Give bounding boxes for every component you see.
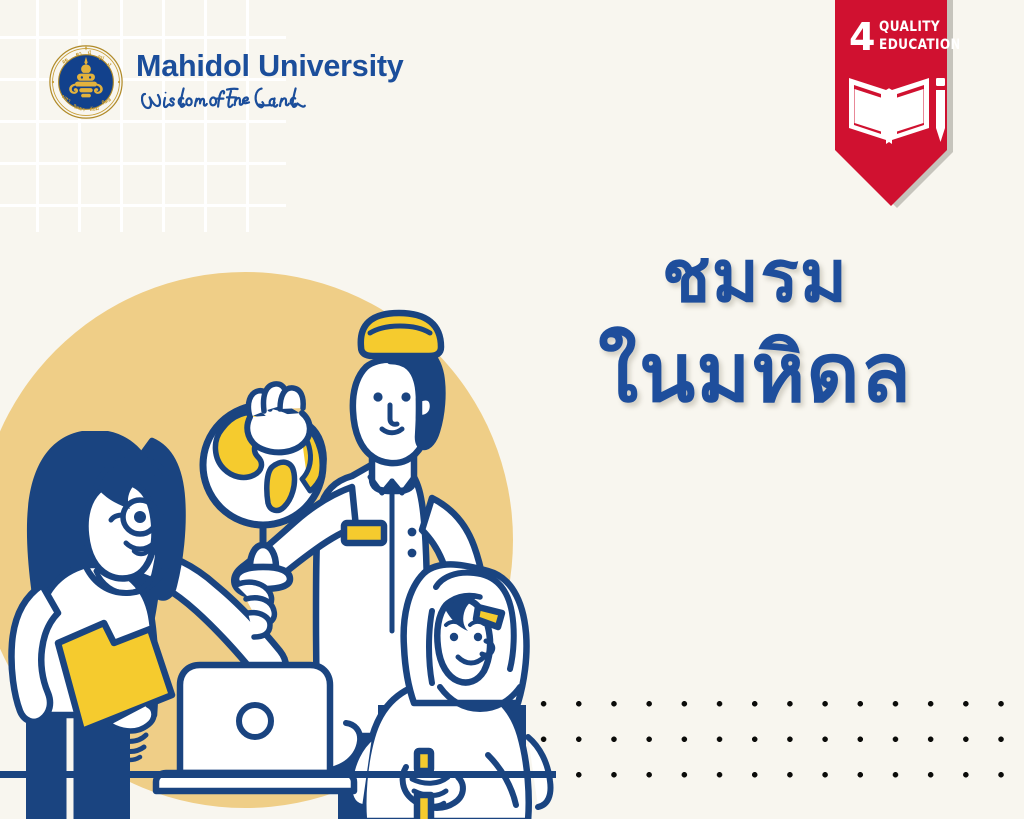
boy-hand-on-globe [247,384,309,452]
mahidol-logo-lockup: อตฺ ตา นํ อุป มํ มหา วิทยา ลัยม หิดล [48,44,404,120]
ground-line [0,771,556,778]
headline-line-1: ชมรม [540,238,970,316]
university-wordmark: Mahidol University [136,51,404,82]
poster-canvas: อตฺ ตา นํ อุป มํ มหา วิทยา ลัยม หิดล [0,0,1024,819]
svg-text:ลัยม: ลัยม [89,105,99,113]
sdg-title-line-2: EDUCATION [879,37,959,54]
wordmark-block: Mahidol University Wisdom of the Land [136,49,404,116]
decorative-dot-pattern [524,682,1024,798]
sdg-title-line-1: QUALITY [879,19,941,36]
headline-block: ชมรม ในมหิดล [540,238,970,418]
mahidol-seal-icon: อตฺ ตา นํ อุป มํ มหา วิทยา ลัยม หิดล [48,44,124,120]
headline-line-2: ในมหิดล [540,330,970,419]
three-students-with-globe-illustration [0,255,580,819]
illustration-graphic [0,255,580,819]
sdg-number: 4 [849,15,875,59]
sdg-4-badge: 4 QUALITY EDUCATION [829,0,959,210]
university-tagline: Wisdom of the Land [141,85,337,115]
sdg-badge-graphic: 4 QUALITY EDUCATION [829,0,959,210]
